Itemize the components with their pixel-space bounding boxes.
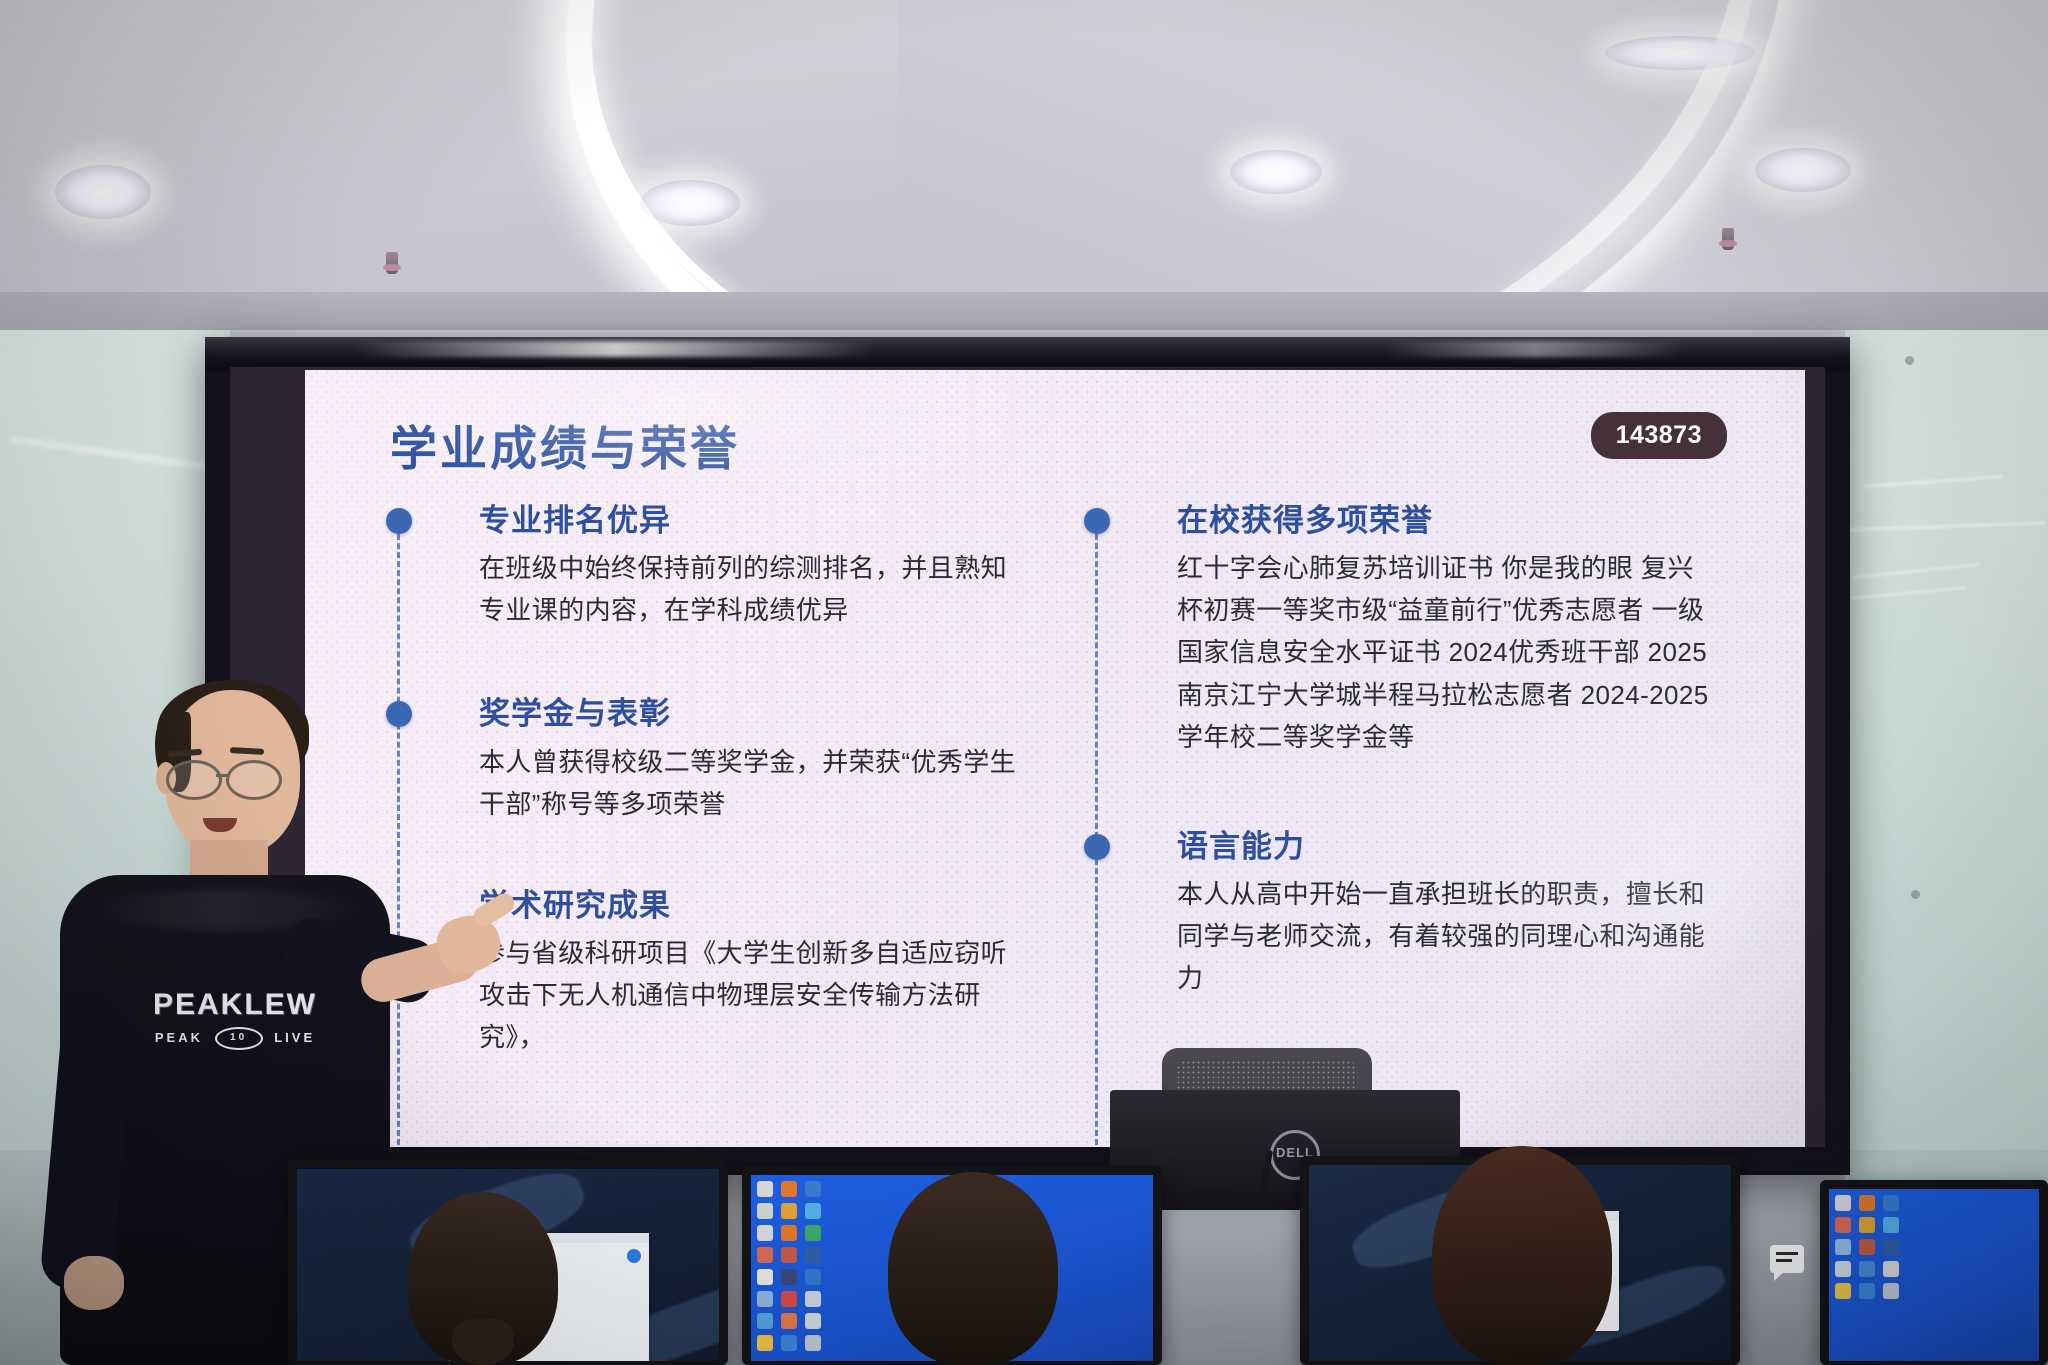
timeline-body: 本人从高中开始一直承担班长的职责，擅长和同学与老师交流，有着较强的同理心和沟通能… (1177, 873, 1715, 999)
ceiling-downlight-1 (55, 165, 151, 219)
chat-bubble-icon[interactable] (1770, 1245, 1804, 1273)
desktop-icon[interactable] (757, 1335, 773, 1351)
audience-head-2 (888, 1172, 1058, 1365)
desktop-icon[interactable] (781, 1181, 797, 1197)
desktop-icon[interactable] (805, 1313, 821, 1329)
desktop-icon[interactable] (1859, 1195, 1875, 1211)
desktop-icon[interactable] (757, 1181, 773, 1197)
desktop-icon[interactable] (781, 1269, 797, 1285)
glasses-lens-right (226, 760, 282, 800)
timeline-heading: 语言能力 (1177, 828, 1715, 865)
desktop-icon[interactable] (757, 1269, 773, 1285)
desktop-icon[interactable] (1859, 1283, 1875, 1299)
chat-line-2 (1776, 1259, 1792, 1262)
timeline-body: 参与省级科研项目《大学生创新多自适应窃听攻击下无人机通信中物理层安全传输方法研究… (479, 932, 1017, 1058)
chat-line-1 (1776, 1252, 1798, 1255)
desktop-icon[interactable] (781, 1247, 797, 1263)
ceiling-downlight-3 (1230, 150, 1322, 194)
glass-fixture-dot-bottom (1911, 890, 1920, 899)
glass-streak-1 (1863, 475, 2003, 488)
ceiling-shadow-band (0, 292, 2048, 330)
desktop-icon[interactable] (805, 1181, 821, 1197)
desktop-icon[interactable] (1883, 1283, 1899, 1299)
left-timeline-column: 专业排名优异 在班级中始终保持前列的综测排名，并且熟知专业课的内容，在学科成绩优… (397, 502, 1017, 1058)
desktop-icon[interactable] (1835, 1195, 1851, 1211)
ceiling (0, 0, 2048, 330)
desktop-icon[interactable] (1883, 1195, 1899, 1211)
desktop-icon[interactable] (1835, 1239, 1851, 1255)
monitor-4-screen[interactable] (1829, 1189, 2039, 1361)
desktop-icon-grid-4[interactable] (1835, 1195, 1899, 1299)
glass-fixture-dot-top (1905, 356, 1914, 365)
glasses-lens-left (166, 760, 222, 800)
tshirt-graphic: PEAKLEW PEAK 10 LIVE (140, 990, 330, 1050)
desktop-icon[interactable] (1835, 1261, 1851, 1277)
glass-streak-3 (1851, 563, 1980, 579)
tshirt-subtext: PEAK 10 LIVE (140, 1027, 330, 1050)
desktop-icon[interactable] (1835, 1283, 1851, 1299)
desktop-icon[interactable] (805, 1269, 821, 1285)
desktop-icon[interactable] (781, 1313, 797, 1329)
sprinkler-head (386, 252, 398, 274)
desktop-icon[interactable] (1859, 1239, 1875, 1255)
glasses-bridge (216, 774, 230, 777)
timeline-item-right-1[interactable]: 在校获得多项荣誉 红十字会心肺复苏培训证书 你是我的眼 复兴杯初赛一等奖市级“益… (1095, 502, 1715, 758)
desktop-icon[interactable] (781, 1203, 797, 1219)
tshirt-sub-right: LIVE (274, 1030, 315, 1045)
timeline-body: 在班级中始终保持前列的综测排名，并且熟知专业课的内容，在学科成绩优异 (479, 547, 1017, 631)
desktop-icon[interactable] (1835, 1217, 1851, 1233)
ceiling-downlight-4 (1755, 148, 1851, 192)
timeline-item-right-2[interactable]: 语言能力 本人从高中开始一直承担班长的职责，擅长和同学与老师交流，有着较强的同理… (1095, 828, 1715, 1000)
desktop-icon[interactable] (781, 1291, 797, 1307)
desktop-icon[interactable] (805, 1291, 821, 1307)
monitor-4 (1820, 1180, 2048, 1365)
presentation-slide: 学业成绩与荣誉 143873 专业排名优异 在班级中始终保持前列的综测排名，并且… (305, 370, 1805, 1147)
desktop-icon[interactable] (1883, 1261, 1899, 1277)
presenter-glasses (160, 760, 304, 794)
timeline-item-left-2[interactable]: 奖学金与表彰 本人曾获得校级二等奖学金，并荣获“优秀学生干部”称号等多项荣誉 (397, 695, 1017, 824)
wall-display: 学业成绩与荣誉 143873 专业排名优异 在班级中始终保持前列的综测排名，并且… (205, 337, 1850, 1175)
page-title: 学业成绩与荣誉 (390, 410, 740, 479)
timeline-heading: 专业排名优异 (479, 502, 1017, 539)
ceiling-downlight-2 (640, 180, 740, 226)
glass-streak-2 (1845, 522, 2045, 532)
desktop-icon[interactable] (757, 1313, 773, 1329)
desktop-icon-grid-2[interactable] (757, 1181, 821, 1351)
window-accent-dot (627, 1249, 641, 1263)
timeline-dot-icon (1084, 508, 1110, 534)
ceiling-downlight-5 (1605, 36, 1755, 70)
desktop-icon[interactable] (757, 1247, 773, 1263)
timeline-dot-icon (386, 508, 412, 534)
desktop-icon[interactable] (805, 1203, 821, 1219)
bezel-glare-2 (1385, 341, 1685, 357)
display-bezel-top (205, 337, 1850, 371)
audience-ponytail-1 (452, 1318, 514, 1365)
slide-number-badge: 143873 (1591, 412, 1727, 459)
display-panel: 学业成绩与荣誉 143873 专业排名优异 在班级中始终保持前列的综测排名，并且… (230, 367, 1825, 1147)
desktop-icon[interactable] (805, 1247, 821, 1263)
desktop-icon[interactable] (805, 1225, 821, 1241)
glass-streak-4 (1851, 587, 1966, 599)
bezel-glare-1 (355, 341, 875, 357)
timeline-body: 本人曾获得校级二等奖学金，并荣获“优秀学生干部”称号等多项荣誉 (479, 741, 1017, 825)
timeline-heading: 在校获得多项荣誉 (1177, 502, 1715, 539)
desktop-icon[interactable] (757, 1291, 773, 1307)
desktop-icon[interactable] (805, 1335, 821, 1351)
desktop-icon[interactable] (757, 1203, 773, 1219)
timeline-dot-icon (1084, 834, 1110, 860)
audience-head-3 (1432, 1146, 1612, 1365)
desktop-icon[interactable] (1883, 1217, 1899, 1233)
timeline-heading: 奖学金与表彰 (479, 695, 1017, 732)
screenshot-root: 学业成绩与荣誉 143873 专业排名优异 在班级中始终保持前列的综测排名，并且… (0, 0, 2048, 1365)
desktop-icon[interactable] (1859, 1217, 1875, 1233)
tshirt-oval-mark: 10 (215, 1027, 263, 1050)
timeline-heading: 学术研究成果 (479, 887, 1017, 924)
tshirt-brand-text: PEAKLEW (140, 990, 330, 1020)
right-timeline-column: 在校获得多项荣誉 红十字会心肺复苏培训证书 你是我的眼 复兴杯初赛一等奖市级“益… (1095, 502, 1715, 999)
desktop-icon[interactable] (1883, 1239, 1899, 1255)
desktop-icon[interactable] (781, 1225, 797, 1241)
timeline-item-left-1[interactable]: 专业排名优异 在班级中始终保持前列的综测排名，并且熟知专业课的内容，在学科成绩优… (397, 502, 1017, 631)
timeline-body: 红十字会心肺复苏培训证书 你是我的眼 复兴杯初赛一等奖市级“益童前行”优秀志愿者… (1177, 547, 1715, 758)
desktop-icon[interactable] (757, 1225, 773, 1241)
desktop-icon[interactable] (781, 1335, 797, 1351)
sprinkler-head-2 (1722, 228, 1734, 250)
tshirt-sub-left: PEAK (155, 1030, 203, 1045)
desktop-icon[interactable] (1859, 1261, 1875, 1277)
